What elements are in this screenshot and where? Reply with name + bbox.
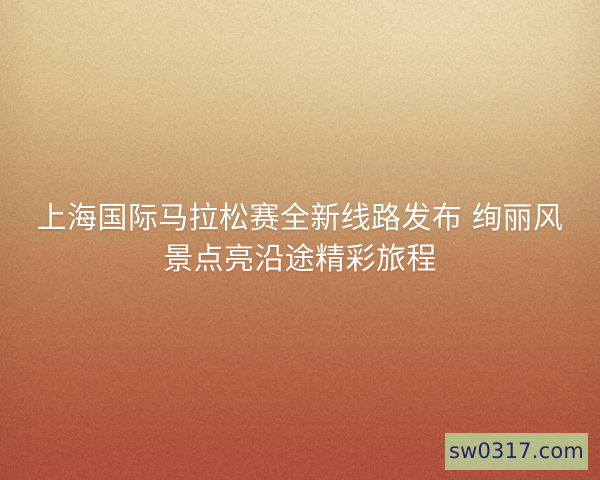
watermark-badge: sw0317.com: [445, 433, 588, 470]
watermark-text: sw0317.com: [449, 441, 584, 462]
image-canvas: 上海国际马拉松赛全新线路发布 绚丽风 景点亮沿途精彩旅程 sw0317.com: [0, 0, 600, 480]
headline-title: 上海国际马拉松赛全新线路发布 绚丽风 景点亮沿途精彩旅程: [0, 198, 600, 280]
